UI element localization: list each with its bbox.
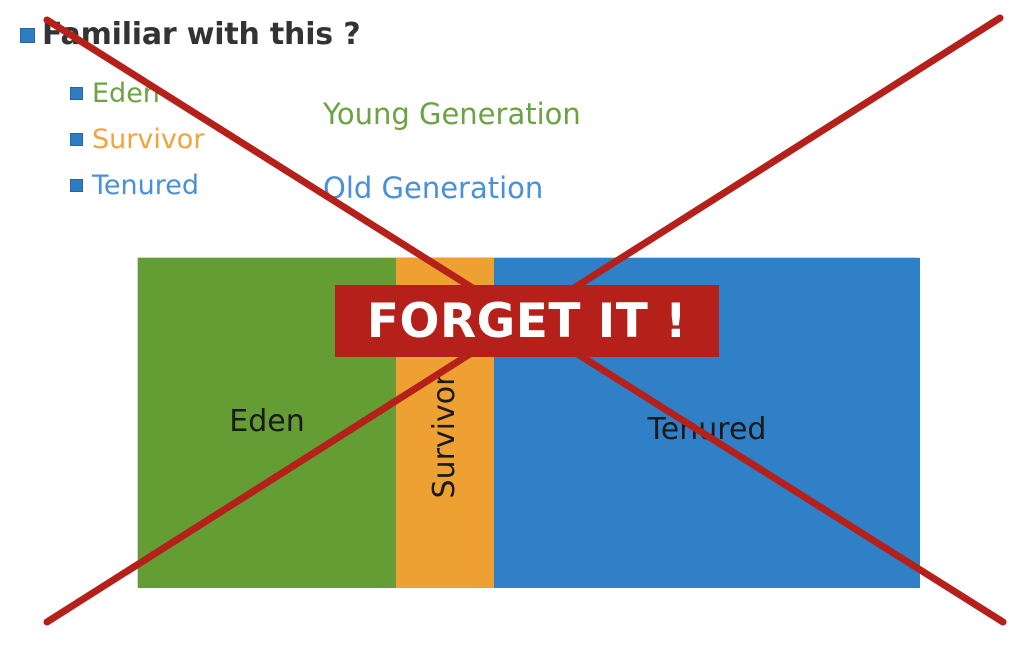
list-item-tenured: Tenured xyxy=(70,172,199,199)
square-bullet-icon xyxy=(70,179,83,192)
list-item-survivor: Survivor xyxy=(70,126,204,153)
heap-segment-label: Eden xyxy=(229,407,304,437)
annotation-young-generation: Young Generation xyxy=(323,100,581,129)
square-bullet-icon xyxy=(70,87,83,100)
page-title: Familiar with this ? xyxy=(42,20,360,50)
forget-it-banner: FORGET IT ! xyxy=(335,285,719,357)
forget-it-banner-text: FORGET IT ! xyxy=(367,298,687,345)
annotation-old-generation: Old Generation xyxy=(323,174,543,203)
list-item-label: Eden xyxy=(92,80,160,107)
list-item-label: Tenured xyxy=(92,172,199,199)
square-bullet-icon xyxy=(20,28,35,43)
square-bullet-icon xyxy=(70,133,83,146)
heap-segment-label: Tenured xyxy=(648,415,767,445)
list-item-label: Survivor xyxy=(92,126,204,153)
slide-title-row: Familiar with this ? xyxy=(20,20,360,50)
heap-segment-label: Survivor xyxy=(430,374,460,499)
slide-canvas: Familiar with this ? Eden Survivor Tenur… xyxy=(0,0,1028,648)
list-item-eden: Eden xyxy=(70,80,160,107)
